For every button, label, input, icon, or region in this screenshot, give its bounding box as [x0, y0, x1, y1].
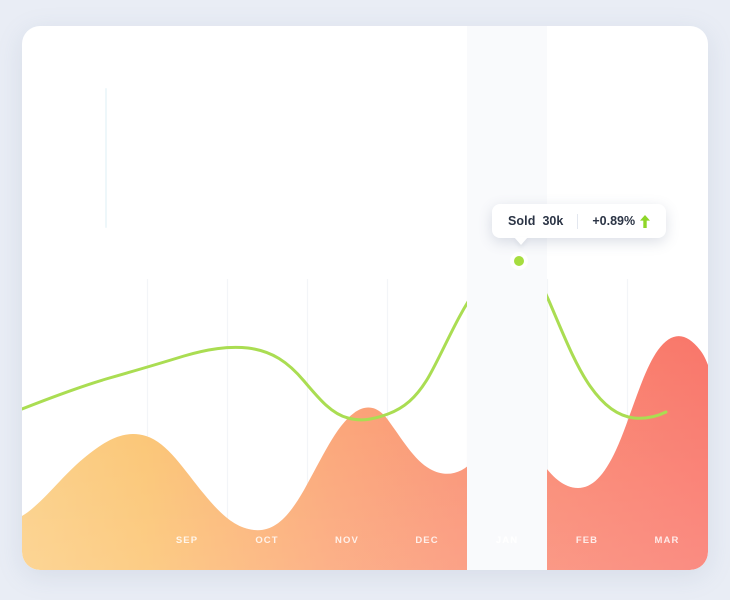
chart-svg: [22, 26, 708, 570]
line-series-sold: [22, 261, 666, 420]
tooltip-label: Sold: [508, 214, 535, 228]
area-series-sheen: [22, 336, 708, 570]
screenshot-root: SEP OCT NOV DEC JAN FEB MAR Sold 30k +0.…: [0, 0, 730, 600]
tooltip-value: 30k: [542, 214, 563, 228]
chart-card: SEP OCT NOV DEC JAN FEB MAR Sold 30k +0.…: [22, 26, 708, 570]
data-point-marker[interactable]: [511, 253, 527, 269]
tooltip-pointer: [514, 237, 528, 245]
chart-plot-area[interactable]: [22, 26, 708, 570]
tooltip-delta: +0.89%: [592, 214, 635, 228]
arrow-up-icon: [640, 215, 650, 228]
chart-tooltip: Sold 30k +0.89%: [492, 204, 666, 238]
left-accent-line: [105, 88, 107, 228]
tooltip-divider: [577, 214, 578, 229]
